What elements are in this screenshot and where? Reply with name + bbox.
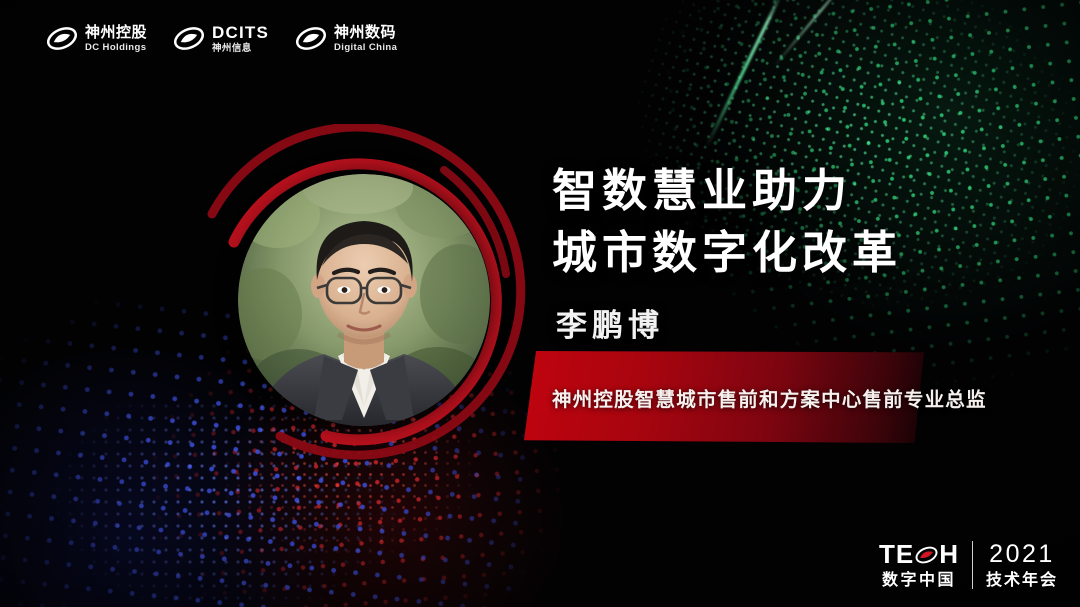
sponsor-name-en: DC Holdings	[85, 43, 147, 53]
talk-title: 智数慧业助力 城市数字化改革	[552, 160, 902, 284]
swirl-logo-icon	[46, 25, 78, 52]
event-logo-year: 2021	[989, 542, 1055, 567]
green-light-streak-secondary-icon	[774, 0, 853, 67]
slide-stage: 神州控股 DC Holdings DCITS 神州信息	[0, 0, 1080, 607]
sponsor-name-cn: DCITS	[212, 24, 269, 41]
talk-title-line-1: 智数慧业助力	[552, 160, 902, 222]
talk-title-line-2: 城市数字化改革	[552, 222, 902, 284]
sponsor-logo-digital-china[interactable]: 神州数码 Digital China	[295, 25, 397, 53]
speaker-role: 神州控股智慧城市售前和方案中心售前专业总监	[552, 383, 987, 412]
event-logo-letter-h: H	[939, 541, 959, 567]
sponsor-logo-bar: 神州控股 DC Holdings DCITS 神州信息	[46, 24, 397, 54]
event-logo[interactable]: T E H 数字中国 2021 技术年会	[879, 541, 1058, 589]
swirl-logo-icon	[295, 25, 327, 52]
event-logo-letter-t: T	[879, 541, 896, 567]
sponsor-name-en: Digital China	[334, 43, 397, 53]
event-logo-tech-wordmark: T E H	[879, 541, 959, 567]
sponsor-name-cn: 神州数码	[334, 25, 397, 40]
speaker-portrait-block	[176, 124, 528, 476]
event-logo-year-block: 2021 技术年会	[972, 541, 1058, 589]
speaker-name: 李鹏博	[556, 300, 664, 345]
swirl-logo-icon	[914, 541, 939, 567]
event-logo-tech-block: T E H 数字中国	[879, 541, 972, 589]
event-logo-letter-e: E	[896, 541, 914, 567]
event-logo-year-subtitle: 技术年会	[986, 573, 1058, 589]
sponsor-name-en: 神州信息	[212, 44, 269, 54]
sponsor-logo-dcits[interactable]: DCITS 神州信息	[173, 24, 269, 54]
sponsor-name-cn: 神州控股	[85, 25, 147, 40]
event-logo-subtitle: 数字中国	[882, 573, 956, 589]
speaker-portrait-photo	[238, 174, 490, 426]
sponsor-logo-dc-holdings[interactable]: 神州控股 DC Holdings	[46, 25, 147, 53]
swirl-logo-icon	[173, 25, 205, 52]
vignette-overlay	[0, 0, 1080, 607]
green-light-streak-icon	[705, 0, 782, 148]
